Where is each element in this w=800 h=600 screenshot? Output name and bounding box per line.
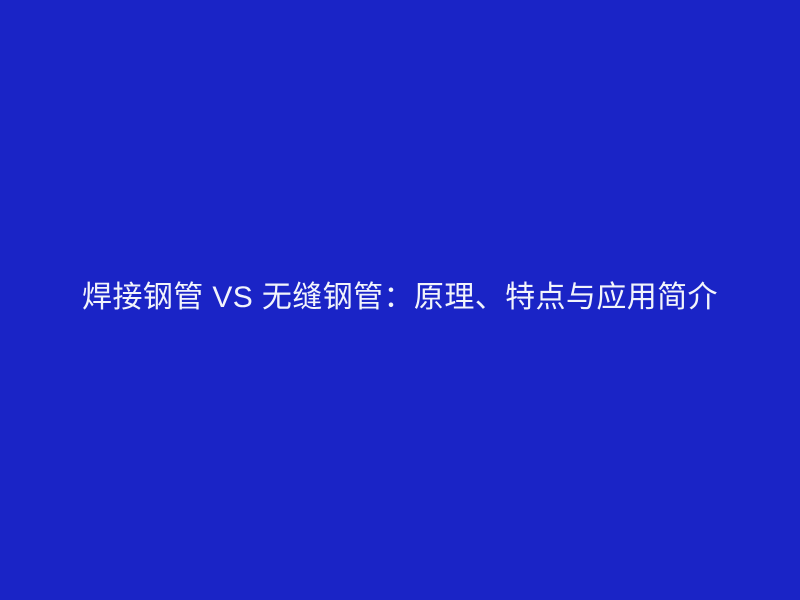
page-title: 焊接钢管 VS 无缝钢管：原理、特点与应用简介 [0,280,800,316]
title-card: 焊接钢管 VS 无缝钢管：原理、特点与应用简介 [0,0,800,600]
